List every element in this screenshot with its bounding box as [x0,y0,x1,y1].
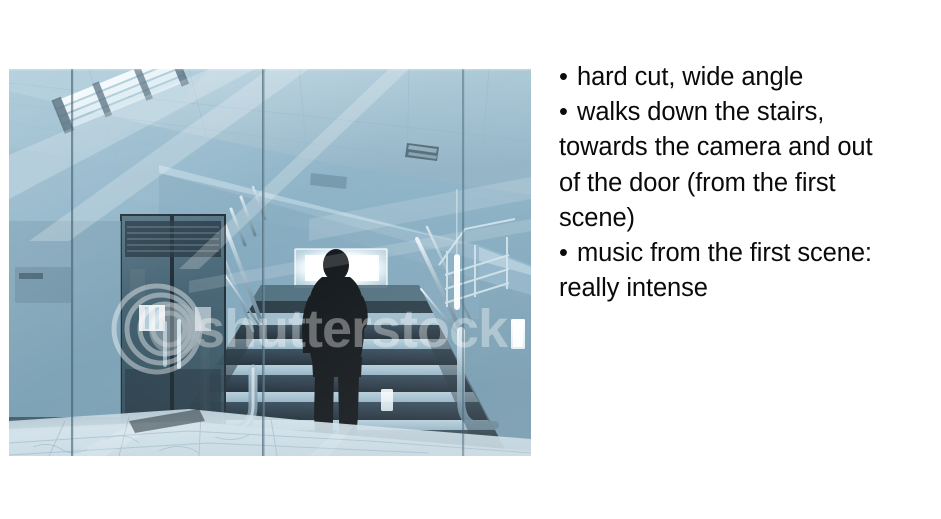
bullet-text-block: •hard cut, wide angle •walks down the st… [559,60,937,306]
bullet-line-2: •walks down the stairs, [559,95,937,130]
photo-artwork: shutterstock [9,69,531,456]
svg-text:shutterstock: shutterstock [195,299,509,359]
bullet-text: walks down the stairs, [577,98,824,126]
bullet-marker: • [559,95,577,130]
bullet-text: towards the camera and out [559,133,873,161]
bullet-marker: • [559,60,577,95]
bullet-line-4: of the door (from the first [559,166,937,201]
bullet-text: hard cut, wide angle [577,63,803,91]
bullet-line-1: •hard cut, wide angle [559,60,937,95]
bullet-line-6: •music from the first scene: [559,236,937,271]
bullet-line-7: really intense [559,271,937,306]
bullet-line-5: scene) [559,201,937,236]
bullet-marker: • [559,236,577,271]
bullet-text: really intense [559,274,708,302]
bullet-text: of the door (from the first [559,169,836,197]
bullet-text: music from the first scene: [577,239,872,267]
bullet-line-3: towards the camera and out [559,130,937,165]
bullet-text: scene) [559,204,635,232]
presentation-slide: shutterstock •hard cut, wide angle •walk… [0,0,941,519]
stairwell-silhouette-photo: shutterstock [9,69,531,456]
